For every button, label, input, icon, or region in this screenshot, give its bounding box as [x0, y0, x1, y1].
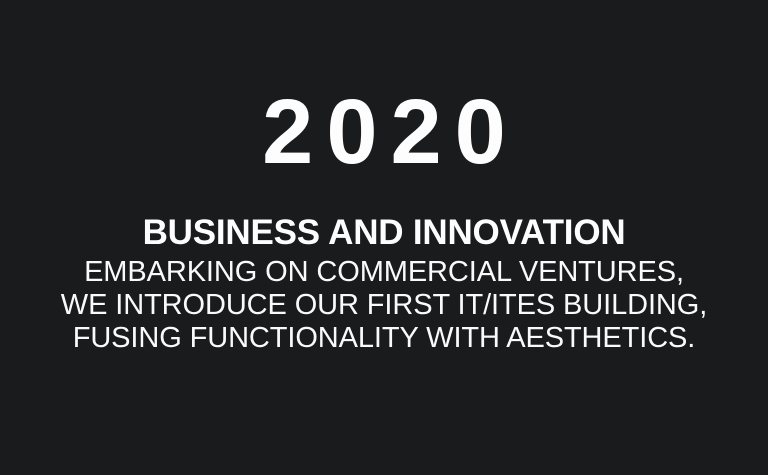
- body-line-2: WE INTRODUCE OUR FIRST IT/ITES BUILDING,: [0, 289, 768, 322]
- year-block: 2020: [0, 86, 768, 178]
- body-copy-block: EMBARKING ON COMMERCIAL VENTURES, WE INT…: [0, 256, 768, 355]
- body-line-1: EMBARKING ON COMMERCIAL VENTURES,: [0, 256, 768, 289]
- milestone-headline: BUSINESS AND INNOVATION: [143, 215, 626, 251]
- milestone-year: 2020: [249, 86, 519, 178]
- body-line-3: FUSING FUNCTIONALITY WITH AESTHETICS.: [0, 322, 768, 355]
- headline-block: BUSINESS AND INNOVATION: [0, 215, 768, 251]
- milestone-slide: 2020 BUSINESS AND INNOVATION EMBARKING O…: [0, 0, 768, 475]
